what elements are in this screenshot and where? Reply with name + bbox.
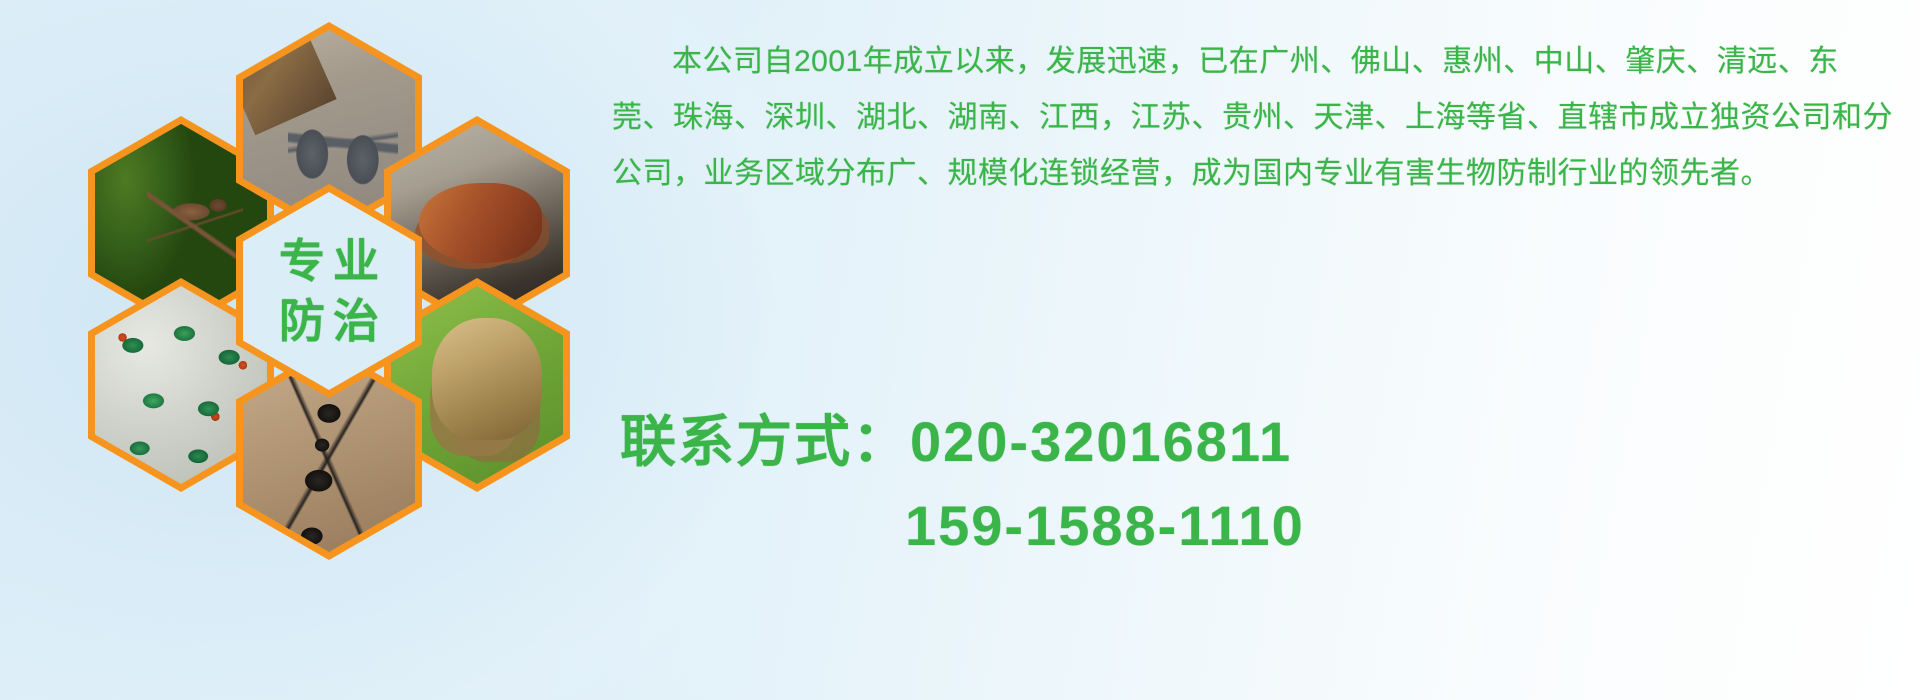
hexagon-photo-cluster: 专业 防治 — [88, 0, 588, 570]
contact-mobile-line[interactable]: 159-1588-1110 — [620, 484, 1910, 568]
contact-block: 联系方式：020-32016811 159-1588-1110 — [620, 400, 1910, 568]
slogan-line-2: 防治 — [271, 294, 387, 348]
contact-landline-line[interactable]: 联系方式：020-32016811 — [620, 400, 1910, 484]
company-intro-paragraph: 本公司自2001年成立以来，发展迅速，已在广州、佛山、惠州、中山、肇庆、清远、东… — [612, 34, 1897, 202]
hex-cell-slogan-inner: 专业 防治 — [243, 192, 415, 390]
slogan-line-1: 专业 — [271, 234, 387, 288]
intro-copy-block: 本公司自2001年成立以来，发展迅速，已在广州、佛山、惠州、中山、肇庆、清远、东… — [612, 34, 1897, 202]
promo-banner: 专业 防治 本公司自2001年成立以来，发展迅速，已在广州、佛山、惠州、中山、肇… — [0, 0, 1920, 700]
